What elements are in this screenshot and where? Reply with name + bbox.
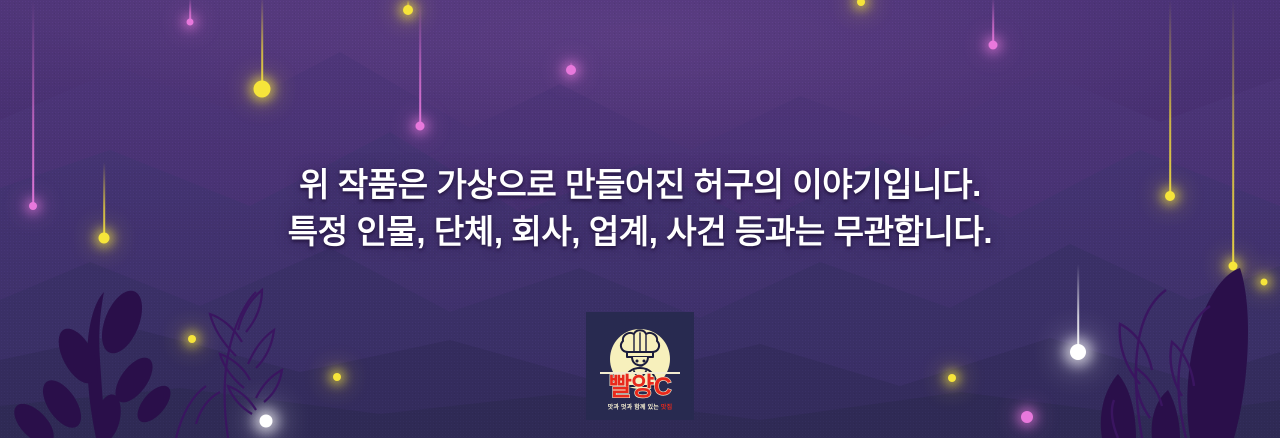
disclaimer-line-2: 특정 인물, 단체, 회사, 업계, 사건 등과는 무관합니다. <box>0 209 1280 256</box>
logo-wordmark: 빨양C <box>586 375 694 400</box>
disclaimer-card: 위 작품은 가상으로 만들어진 허구의 이야기입니다. 특정 인물, 단체, 회… <box>0 0 1280 438</box>
logo-tagline: 맛과 멋과 함께 있는 맛집 <box>586 402 694 411</box>
brand-logo: 빨양C 맛과 멋과 함께 있는 맛집 <box>586 312 694 420</box>
disclaimer-text: 위 작품은 가상으로 만들어진 허구의 이야기입니다. 특정 인물, 단체, 회… <box>0 162 1280 256</box>
logo-tagline-highlight: 맛집 <box>661 405 672 411</box>
disclaimer-line-1: 위 작품은 가상으로 만들어진 허구의 이야기입니다. <box>0 162 1280 209</box>
logo-tagline-prefix: 맛과 멋과 함께 있는 <box>608 405 661 411</box>
